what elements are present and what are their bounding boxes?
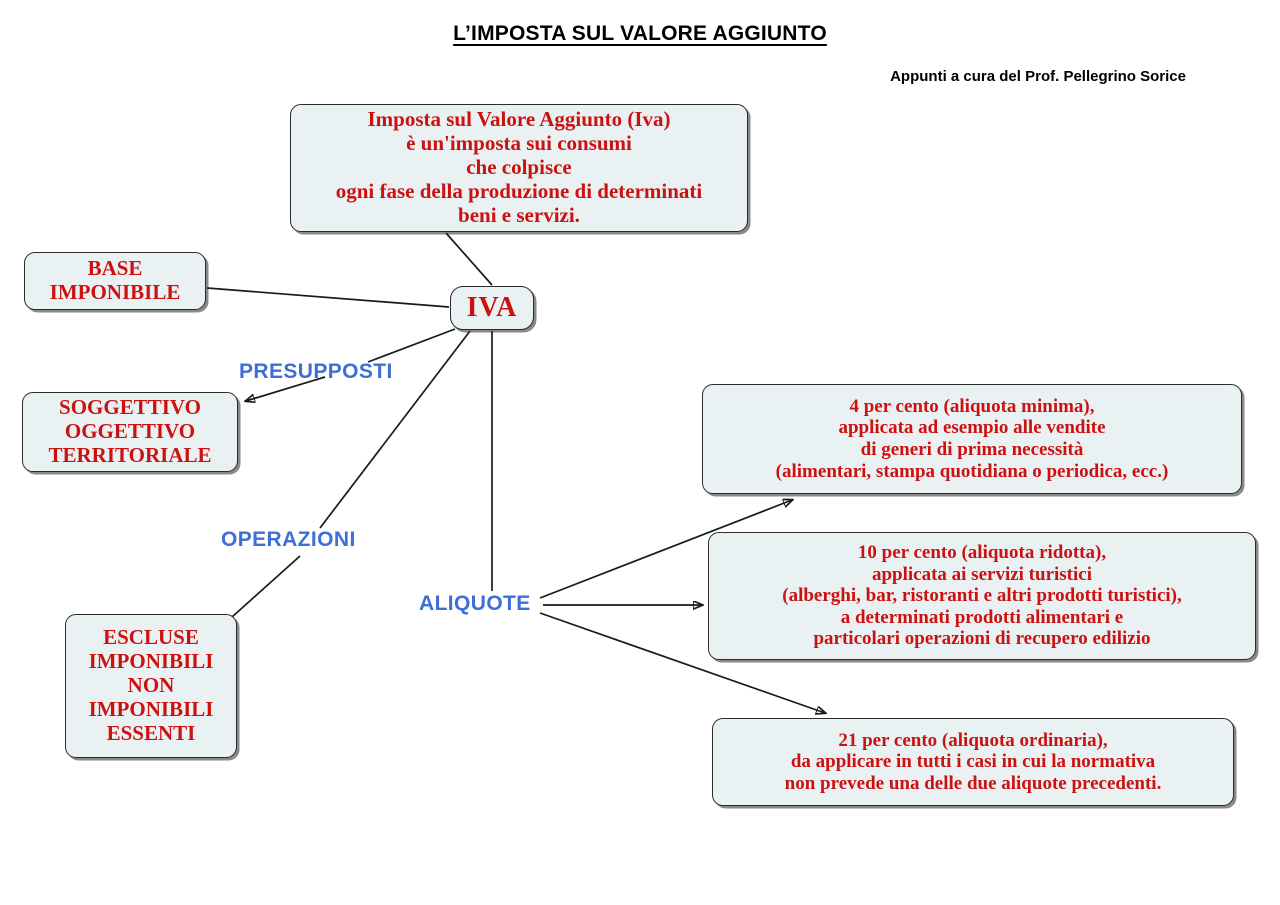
node-definition-iva: Imposta sul Valore Aggiunto (Iva) è un'i… xyxy=(290,104,748,232)
edge-label-operazioni: OPERAZIONI xyxy=(221,528,356,552)
node-aliquota-4-percento: 4 per cento (aliquota minima), applicata… xyxy=(702,384,1242,494)
edge-label-aliquote: ALIQUOTE xyxy=(419,592,531,616)
node-presupposti-list: SOGGETTIVO OGGETTIVO TERRITORIALE xyxy=(22,392,238,472)
edge-label-presupposti: PRESUPPOSTI xyxy=(239,360,393,384)
connector-definition-to-iva xyxy=(446,233,492,285)
connector-operazioni-to-box xyxy=(232,556,300,617)
node-aliquota-21-percento: 21 per cento (aliquota ordinaria), da ap… xyxy=(712,718,1234,806)
node-aliquota-10-percento: 10 per cento (aliquota ridotta), applica… xyxy=(708,532,1256,660)
node-iva-center: IVA xyxy=(450,286,534,330)
connector-base-to-iva xyxy=(207,288,449,307)
node-operazioni-list: ESCLUSE IMPONIBILI NON IMPONIBILI ESSENT… xyxy=(65,614,237,758)
diagram-canvas: L’IMPOSTA SUL VALORE AGGIUNTO Appunti a … xyxy=(0,0,1280,905)
page-title: L’IMPOSTA SUL VALORE AGGIUNTO xyxy=(0,22,1280,46)
node-base-imponibile: BASE IMPONIBILE xyxy=(24,252,206,310)
page-subtitle-author: Appunti a cura del Prof. Pellegrino Sori… xyxy=(0,68,1186,85)
connector-iva-to-presupposti xyxy=(368,329,455,362)
